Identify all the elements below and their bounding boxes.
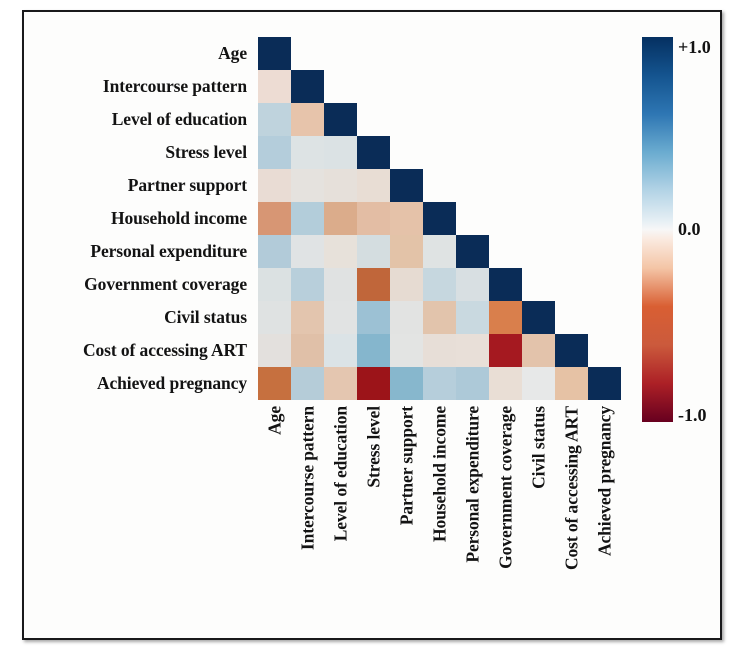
heatmap-cell xyxy=(324,301,357,334)
heatmap-cell xyxy=(324,202,357,235)
col-label-9: Cost of accessing ART xyxy=(561,406,582,570)
heatmap-cell xyxy=(555,334,588,367)
row-label-10: Achieved pregnancy xyxy=(97,367,247,400)
heatmap-cell xyxy=(291,103,324,136)
heatmap-cell xyxy=(258,235,291,268)
row-label-5: Household income xyxy=(111,202,247,235)
heatmap-cell xyxy=(357,169,390,202)
col-label-slot-2: Level of education xyxy=(324,406,357,602)
col-label-slot-1: Intercourse pattern xyxy=(291,406,324,602)
heatmap-cell xyxy=(258,202,291,235)
heatmap-cell xyxy=(390,202,423,235)
heatmap-cell xyxy=(357,301,390,334)
heatmap-cell xyxy=(324,103,357,136)
col-label-6: Personal expenditure xyxy=(462,406,483,563)
heatmap-cell xyxy=(258,334,291,367)
heatmap-cell xyxy=(357,268,390,301)
row-label-2: Level of education xyxy=(112,103,247,136)
heatmap-cell xyxy=(258,70,291,103)
colorbar: +1.0 0.0 -1.0 xyxy=(642,37,724,427)
heatmap-cell xyxy=(489,334,522,367)
heatmap-cell xyxy=(258,268,291,301)
col-label-4: Partner support xyxy=(396,406,417,525)
row-label-4: Partner support xyxy=(128,169,247,202)
heatmap-cell xyxy=(588,367,621,400)
heatmap-cell xyxy=(324,367,357,400)
col-label-2: Level of education xyxy=(330,406,351,541)
heatmap-cell xyxy=(390,334,423,367)
colorbar-tick-max: +1.0 xyxy=(678,37,711,58)
heatmap-cell xyxy=(291,70,324,103)
heatmap-cell xyxy=(291,202,324,235)
heatmap-cell xyxy=(390,169,423,202)
heatmap-cell xyxy=(258,301,291,334)
heatmap-cell xyxy=(291,235,324,268)
heatmap-cell xyxy=(258,103,291,136)
heatmap-cell xyxy=(456,334,489,367)
heatmap-cell xyxy=(423,268,456,301)
heatmap-cell xyxy=(390,268,423,301)
heatmap-cell xyxy=(258,367,291,400)
heatmap-grid xyxy=(258,37,624,403)
colorbar-tick-mid: 0.0 xyxy=(678,219,701,240)
heatmap-cell xyxy=(489,367,522,400)
heatmap-cell xyxy=(555,367,588,400)
row-label-9: Cost of accessing ART xyxy=(83,334,247,367)
row-label-3: Stress level xyxy=(165,136,247,169)
heatmap-cell xyxy=(423,235,456,268)
correlation-heatmap-plot: AgeIntercourse patternLevel of education… xyxy=(24,12,724,642)
row-label-6: Personal expenditure xyxy=(90,235,247,268)
heatmap-cell xyxy=(456,367,489,400)
col-label-0: Age xyxy=(264,406,285,435)
heatmap-cell xyxy=(423,301,456,334)
heatmap-cell xyxy=(324,169,357,202)
col-label-5: Household income xyxy=(429,406,450,542)
col-label-slot-7: Government coverage xyxy=(489,406,522,602)
heatmap-cell xyxy=(390,301,423,334)
col-label-slot-0: Age xyxy=(258,406,291,602)
heatmap-cell xyxy=(258,136,291,169)
row-axis-labels: AgeIntercourse patternLevel of education… xyxy=(24,37,253,400)
heatmap-cell xyxy=(456,268,489,301)
row-label-0: Age xyxy=(218,37,247,70)
heatmap-cell xyxy=(291,301,324,334)
heatmap-cell xyxy=(291,136,324,169)
heatmap-cell xyxy=(390,367,423,400)
heatmap-cell xyxy=(324,268,357,301)
heatmap-cell xyxy=(291,169,324,202)
heatmap-cell xyxy=(357,202,390,235)
row-label-8: Civil status xyxy=(164,301,247,334)
heatmap-cell xyxy=(324,136,357,169)
heatmap-cell xyxy=(258,169,291,202)
col-label-8: Civil status xyxy=(528,406,549,489)
heatmap-cell xyxy=(522,301,555,334)
heatmap-cell xyxy=(456,301,489,334)
heatmap-cell xyxy=(357,235,390,268)
col-label-1: Intercourse pattern xyxy=(297,406,318,550)
col-label-7: Government coverage xyxy=(495,406,516,569)
col-label-slot-8: Civil status xyxy=(522,406,555,602)
heatmap-cell xyxy=(258,37,291,70)
heatmap-cell xyxy=(489,268,522,301)
heatmap-cell xyxy=(324,235,357,268)
heatmap-cell xyxy=(357,367,390,400)
heatmap-cell xyxy=(357,334,390,367)
col-label-slot-5: Household income xyxy=(423,406,456,602)
heatmap-cell xyxy=(357,136,390,169)
heatmap-cell xyxy=(390,235,423,268)
colorbar-tick-min: -1.0 xyxy=(678,405,707,426)
heatmap-cell xyxy=(291,334,324,367)
col-label-slot-9: Cost of accessing ART xyxy=(555,406,588,602)
heatmap-cell xyxy=(522,334,555,367)
colorbar-gradient xyxy=(642,37,673,422)
col-label-slot-6: Personal expenditure xyxy=(456,406,489,602)
figure-frame: AgeIntercourse patternLevel of education… xyxy=(22,10,722,640)
heatmap-cell xyxy=(423,202,456,235)
heatmap-cell xyxy=(324,334,357,367)
column-axis-labels: AgeIntercourse patternLevel of education… xyxy=(258,406,624,606)
col-label-slot-3: Stress level xyxy=(357,406,390,602)
col-label-10: Achieved pregnancy xyxy=(594,406,615,556)
heatmap-cell xyxy=(423,334,456,367)
heatmap-cell xyxy=(291,367,324,400)
col-label-slot-4: Partner support xyxy=(390,406,423,602)
heatmap-cell xyxy=(522,367,555,400)
row-label-7: Government coverage xyxy=(84,268,247,301)
col-label-3: Stress level xyxy=(363,406,384,488)
heatmap-cell xyxy=(423,367,456,400)
heatmap-cell xyxy=(489,301,522,334)
row-label-1: Intercourse pattern xyxy=(103,70,247,103)
heatmap-cell xyxy=(456,235,489,268)
col-label-slot-10: Achieved pregnancy xyxy=(588,406,621,602)
heatmap-cell xyxy=(291,268,324,301)
